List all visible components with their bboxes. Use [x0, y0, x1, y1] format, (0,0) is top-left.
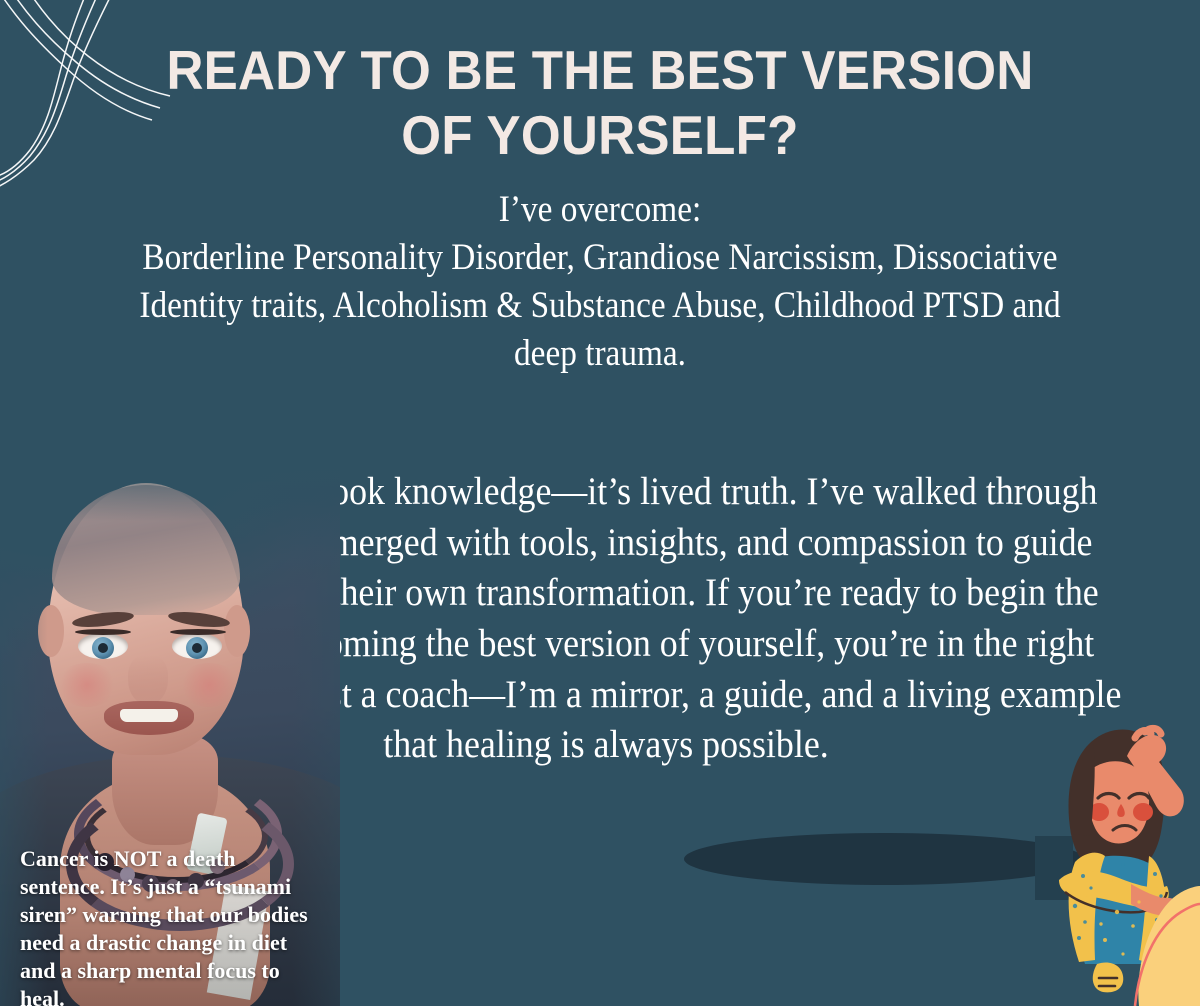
- portrait-mouth: [104, 701, 194, 735]
- poster-canvas: READY TO BE THE BEST VERSION OF YOURSELF…: [0, 0, 1200, 1006]
- portrait-blush-right: [178, 663, 240, 707]
- photo-caption: Cancer is NOT a death sentence. It’s jus…: [20, 845, 320, 1006]
- portrait-lashline-right: [170, 629, 226, 635]
- page-title: READY TO BE THE BEST VERSION OF YOURSELF…: [42, 38, 1158, 168]
- ground-shadow-ellipse: [684, 833, 1084, 885]
- portrait-teeth: [120, 709, 178, 722]
- intro-lead: I’ve overcome:: [105, 186, 1095, 234]
- portrait-nose: [128, 655, 168, 705]
- portrait-ear-left: [38, 605, 64, 657]
- headline-line-2: OF YOURSELF?: [42, 103, 1158, 168]
- portrait-blush-left: [56, 663, 118, 707]
- portrait-iris-left: [92, 637, 114, 659]
- portrait-lashline-left: [75, 629, 131, 635]
- headline-line-1: READY TO BE THE BEST VERSION: [42, 38, 1158, 103]
- intro-block: I’ve overcome: Borderline Personality Di…: [105, 186, 1095, 378]
- portrait-eye-right: [172, 633, 222, 659]
- portrait-eye-left: [78, 633, 128, 659]
- intro-conditions-list: Borderline Personality Disorder, Grandio…: [105, 234, 1095, 378]
- portrait-iris-right: [186, 637, 208, 659]
- portrait-ear-right: [224, 605, 250, 657]
